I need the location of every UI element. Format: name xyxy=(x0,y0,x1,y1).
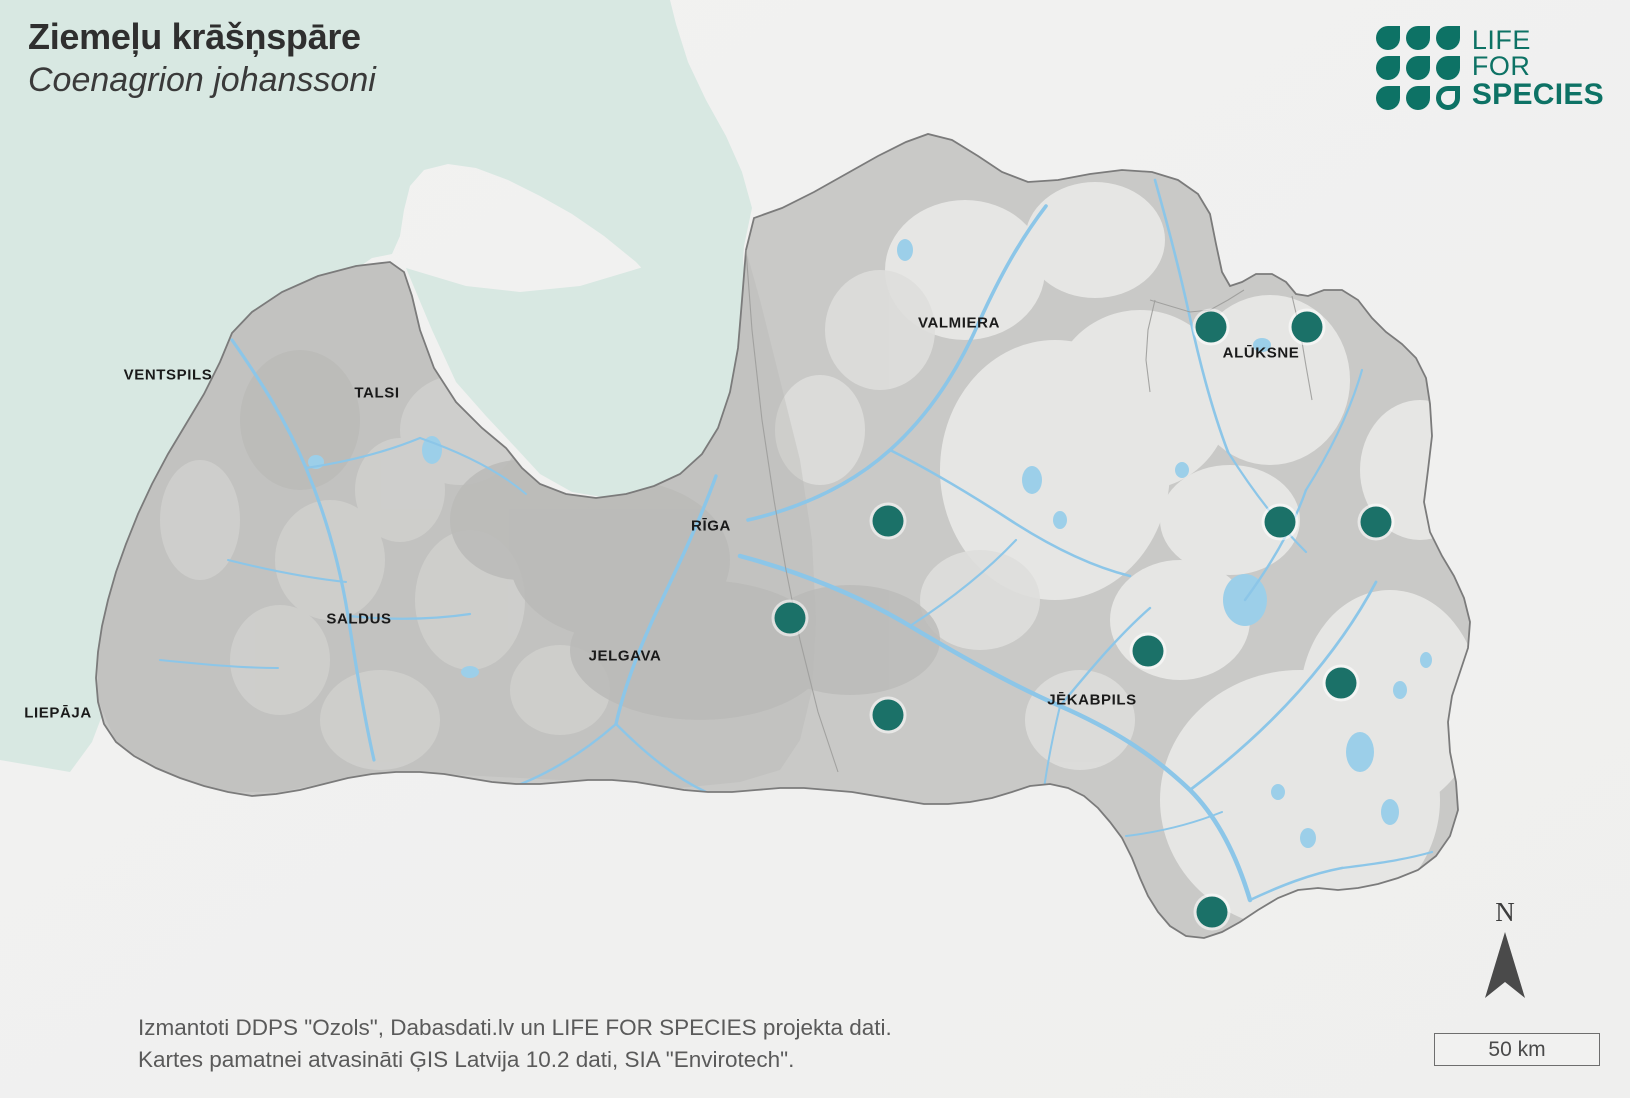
species-distribution-map: Ziemeļu krāšņspāre Coenagrion johanssoni… xyxy=(0,0,1630,1098)
leaf-icon xyxy=(1406,26,1430,50)
north-arrow-icon xyxy=(1482,930,1528,1000)
city-label-alūksne: ALŪKSNE xyxy=(1223,345,1300,362)
city-label-saldus: SALDUS xyxy=(326,611,391,628)
leaf-outline-icon xyxy=(1436,86,1460,110)
north-label: N xyxy=(1482,899,1528,926)
occurrence-point xyxy=(873,700,904,731)
occurrence-point xyxy=(1133,636,1164,667)
occurrence-point xyxy=(1292,312,1323,343)
occurrence-point xyxy=(1265,507,1296,538)
city-label-jelgava: JELGAVA xyxy=(589,648,662,665)
leaf-icon xyxy=(1376,86,1400,110)
scientific-name: Coenagrion johanssoni xyxy=(28,60,376,101)
logo-leaf-grid xyxy=(1376,26,1460,110)
north-arrow: N xyxy=(1482,899,1528,1000)
city-label-ventspils: VENTSPILS xyxy=(124,367,213,384)
occurrence-point xyxy=(1196,312,1227,343)
logo-line-for: FOR xyxy=(1472,53,1604,79)
basemap-land-layer xyxy=(0,0,1630,1098)
page-title: Ziemeļu krāšņspāre xyxy=(28,16,376,58)
occurrence-point xyxy=(1326,668,1357,699)
leaf-icon xyxy=(1406,86,1430,110)
city-label-liepāja: LIEPĀJA xyxy=(24,705,92,722)
logo-line-species: SPECIES xyxy=(1472,80,1604,109)
leaf-icon xyxy=(1376,26,1400,50)
leaf-icon xyxy=(1376,56,1400,80)
occurrence-point xyxy=(1197,897,1228,928)
leaf-icon xyxy=(1436,26,1460,50)
scale-bar: 50 km xyxy=(1434,1033,1600,1066)
data-source-line-2: Kartes pamatnei atvasināti ĢIS Latvija 1… xyxy=(138,1044,892,1076)
life-for-species-logo: LIFE FOR SPECIES xyxy=(1376,26,1604,110)
city-label-talsi: TALSI xyxy=(354,385,399,402)
data-source-note: Izmantoti DDPS "Ozols", Dabasdati.lv un … xyxy=(138,1012,892,1076)
city-label-jēkabpils: JĒKABPILS xyxy=(1047,692,1137,709)
title-block: Ziemeļu krāšņspāre Coenagrion johanssoni xyxy=(28,16,376,101)
logo-wordmark: LIFE FOR SPECIES xyxy=(1472,27,1604,108)
city-label-rīga: RĪGA xyxy=(691,518,731,535)
occurrence-point xyxy=(775,603,806,634)
logo-line-life: LIFE xyxy=(1472,27,1604,53)
data-source-line-1: Izmantoti DDPS "Ozols", Dabasdati.lv un … xyxy=(138,1012,892,1044)
occurrence-point xyxy=(1361,507,1392,538)
leaf-icon xyxy=(1436,56,1460,80)
scale-bar-label: 50 km xyxy=(1488,1038,1545,1062)
city-label-valmiera: VALMIERA xyxy=(918,315,1000,332)
occurrence-point xyxy=(873,506,904,537)
leaf-icon xyxy=(1406,56,1430,80)
